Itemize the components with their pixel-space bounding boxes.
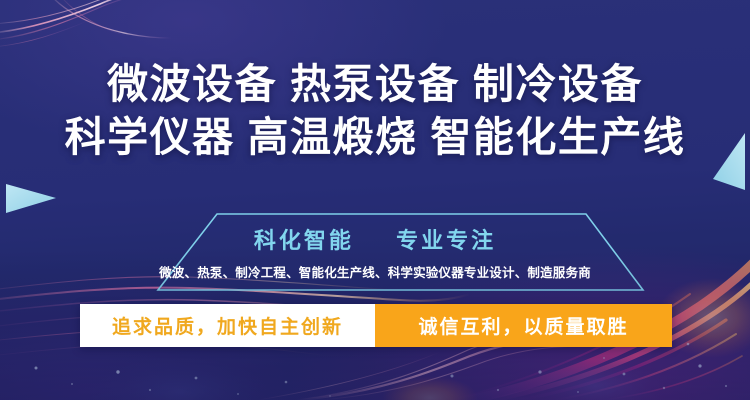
cta-right-button[interactable]: 诚信互利，以质量取胜 <box>375 304 672 347</box>
badge-description: 微波、热泵、制冷工程、智能化生产线、科学实验仪器专业设计、制造服务商 <box>0 262 750 281</box>
badge-slogan: 科化智能 专业专注 <box>0 223 750 255</box>
promo-banner: 微波设备 热泵设备 制冷设备 科学仪器 高温煅烧 智能化生产线 科化智能 专业专… <box>0 0 750 400</box>
headline-line-2: 科学仪器 高温煅烧 智能化生产线 <box>0 111 750 164</box>
badge-slogan-right: 专业专注 <box>396 228 496 253</box>
badge-slogan-left: 科化智能 <box>254 228 354 253</box>
cta-left-button[interactable]: 追求品质，加快自主创新 <box>80 304 375 347</box>
headline: 微波设备 热泵设备 制冷设备 科学仪器 高温煅烧 智能化生产线 <box>0 58 750 164</box>
badge: 科化智能 专业专注 微波、热泵、制冷工程、智能化生产线、科学实验仪器专业设计、制… <box>0 206 750 298</box>
cta-pill: 追求品质，加快自主创新 诚信互利，以质量取胜 <box>80 304 672 347</box>
headline-line-1: 微波设备 热泵设备 制冷设备 <box>0 58 750 111</box>
